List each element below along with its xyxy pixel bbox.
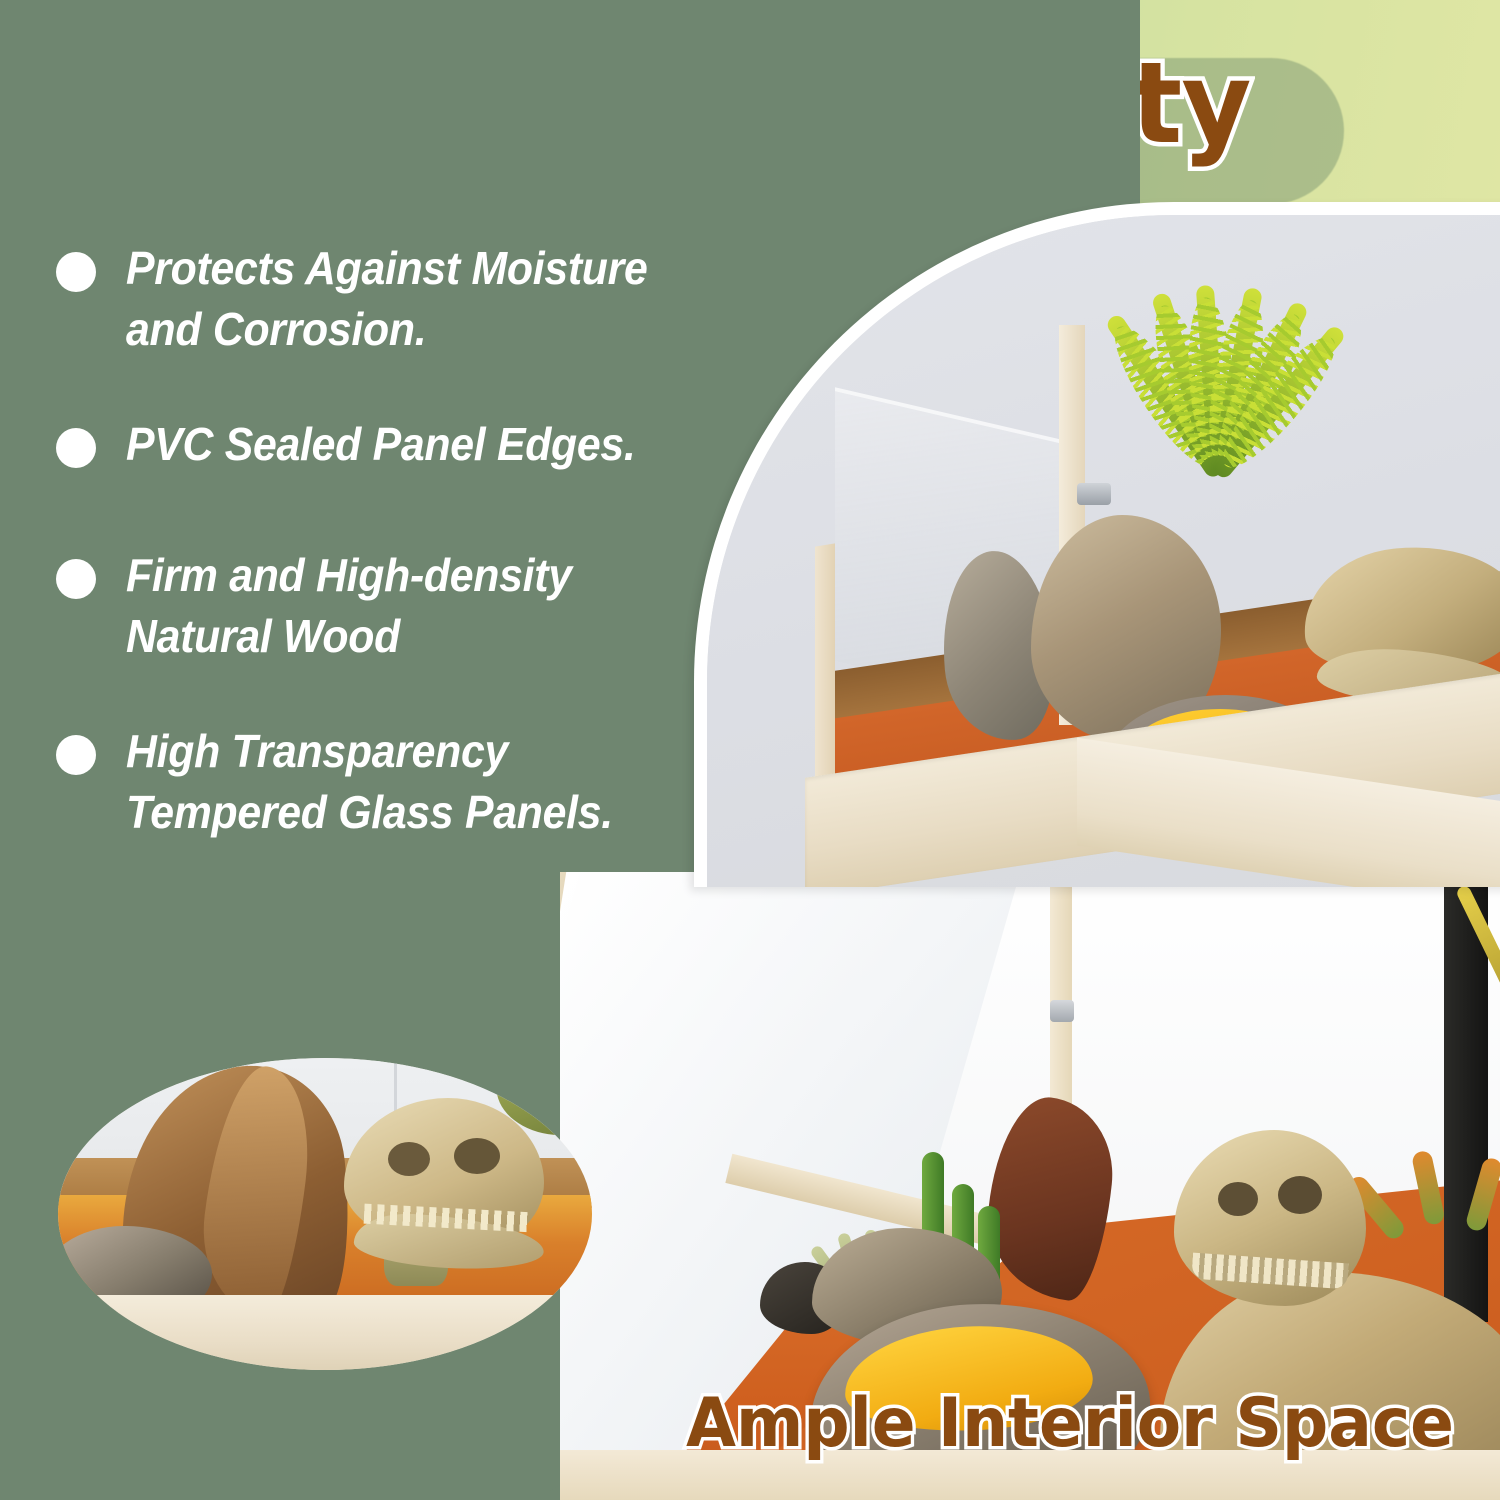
- list-item: High Transparency Tempered Glass Panels.: [56, 721, 856, 843]
- terrarium-closeup-oval-photo: [58, 1058, 592, 1370]
- bullet-dot-icon: [56, 252, 96, 292]
- list-item: Firm and High-density Natural Wood: [56, 545, 856, 667]
- feature-text: High Transparency Tempered Glass Panels.: [126, 721, 613, 843]
- product-feature-infographic: Premium Quality: [0, 0, 1500, 1500]
- frame-bolt-icon: [1050, 1000, 1074, 1022]
- bullet-dot-icon: [56, 559, 96, 599]
- frame-bolt-icon: [1077, 483, 1111, 505]
- feature-text: Firm and High-density Natural Wood: [126, 545, 572, 667]
- fern-plant-right: [1440, 872, 1500, 1132]
- bottom-caption: Ample Interior Space: [662, 1388, 1479, 1460]
- list-item: Protects Against Moisture and Corrosion.: [56, 238, 856, 360]
- wood-base-front: [58, 1295, 592, 1370]
- feature-text: Protects Against Moisture and Corrosion.: [126, 238, 648, 360]
- bullet-dot-icon: [56, 428, 96, 468]
- orange-foliage-plant: [1360, 1122, 1500, 1292]
- feature-list: Protects Against Moisture and Corrosion.…: [56, 238, 856, 897]
- list-item: PVC Sealed Panel Edges.: [56, 414, 856, 475]
- bullet-dot-icon: [56, 735, 96, 775]
- feature-text: PVC Sealed Panel Edges.: [126, 414, 636, 475]
